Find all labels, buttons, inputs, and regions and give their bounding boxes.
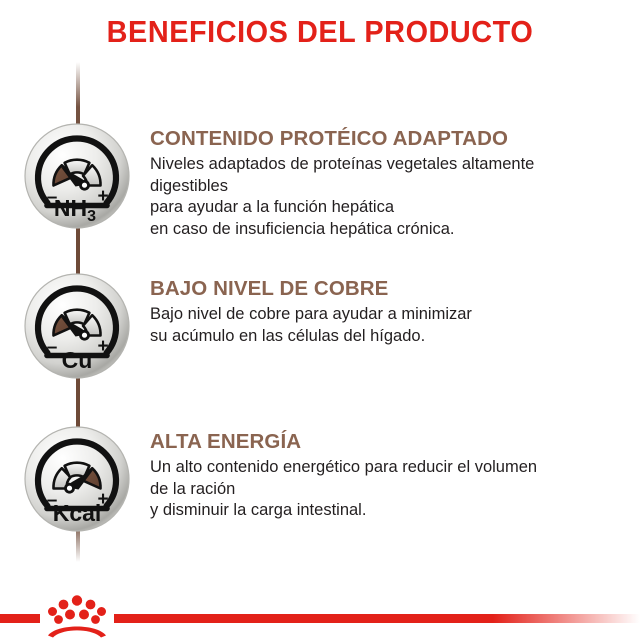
svg-text:–: – [47, 337, 58, 358]
page-title: BENEFICIOS DEL PRODUCTO [22, 14, 617, 50]
footer-bar-right [114, 614, 640, 623]
benefit-text-block: BAJO NIVEL DE COBRE Bajo nivel de cobre … [150, 277, 636, 347]
svg-text:Cu: Cu [62, 347, 93, 373]
benefit-heading: CONTENIDO PROTÉICO ADAPTADO [150, 127, 636, 151]
gauge-icon-nh3: – + NH3 [23, 122, 131, 230]
benefit-heading: BAJO NIVEL DE COBRE [150, 277, 636, 301]
benefit-text-block: CONTENIDO PROTÉICO ADAPTADO Niveles adap… [150, 127, 636, 240]
benefit-body: Bajo nivel de cobre para ayudar a minimi… [150, 304, 636, 347]
gauge-icon-cu: – + Cu [23, 272, 131, 380]
benefit-body: Un alto contenido energético para reduci… [150, 457, 636, 522]
benefit-heading: ALTA ENERGÍA [150, 430, 636, 454]
benefit-text-block: ALTA ENERGÍA Un alto contenido energétic… [150, 430, 636, 522]
svg-text:+: + [97, 186, 108, 207]
gauge-icon-kcal: – + Kcal [23, 425, 131, 533]
footer-bar-left [0, 614, 40, 623]
benefit-body: Niveles adaptados de proteínas vegetales… [150, 154, 636, 240]
royal-canin-crown-logo [44, 594, 110, 640]
footer [0, 578, 640, 640]
svg-text:+: + [97, 336, 108, 357]
svg-text:Kcal: Kcal [53, 500, 102, 526]
